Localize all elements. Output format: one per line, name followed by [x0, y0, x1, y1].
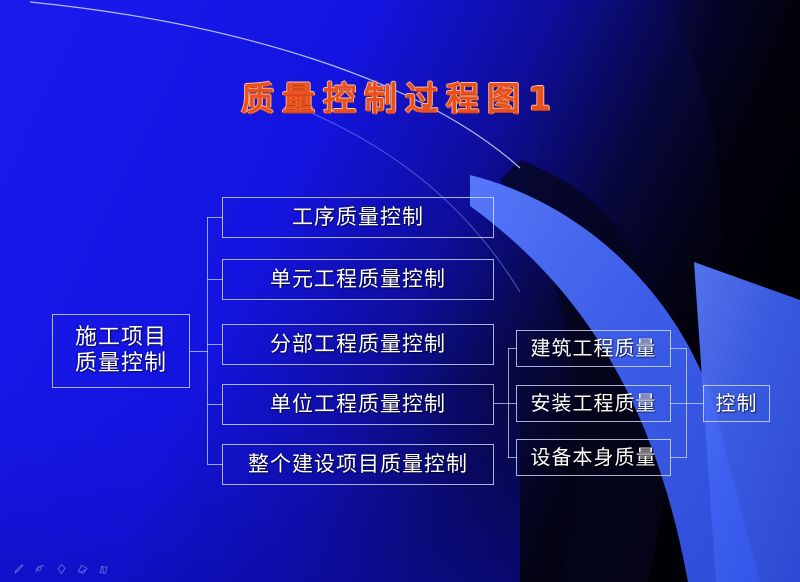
node-label: 设备本身质量 — [531, 446, 657, 470]
node-control-terminal[interactable]: 控制 — [703, 385, 770, 422]
node-label: 安装工程质量 — [531, 392, 657, 416]
pointer-icon[interactable] — [54, 562, 69, 576]
node-label: 单元工程质量控制 — [270, 267, 446, 292]
connector-middle-spine — [207, 217, 208, 464]
node-label: 整个建设项目质量控制 — [248, 452, 468, 477]
node-root-line1: 施工项目 — [75, 325, 167, 351]
connector-root-stub — [190, 351, 208, 352]
annotation-toolbar[interactable] — [12, 562, 111, 576]
connector-middle-1 — [207, 217, 223, 218]
connector-terminal-3 — [670, 457, 687, 458]
node-unit-project-quality-control[interactable]: 单位工程质量控制 — [222, 384, 494, 425]
slide-canvas: 质量控制过程图1 施工项目 质量控制 工序质量控制 单元工程质量控制 分部工程质… — [0, 0, 800, 582]
connector-terminal-spine — [686, 348, 687, 458]
page-title: 质量控制过程图1 — [0, 72, 800, 120]
node-division-engineering-quality-control[interactable]: 分部工程质量控制 — [222, 324, 494, 365]
connector-middle-3 — [207, 344, 223, 345]
node-label: 单位工程质量控制 — [270, 392, 446, 417]
connector-middle-5 — [207, 464, 223, 465]
connector-terminal-1 — [670, 348, 687, 349]
scribble-icon[interactable] — [33, 562, 48, 576]
node-installation-engineering-quality[interactable]: 安装工程质量 — [516, 385, 671, 422]
node-building-engineering-quality[interactable]: 建筑工程质量 — [516, 330, 671, 367]
pen-icon[interactable] — [12, 562, 27, 576]
node-whole-construction-project-quality-control[interactable]: 整个建设项目质量控制 — [222, 444, 494, 485]
node-label: 工序质量控制 — [292, 205, 424, 230]
node-root-line2: 质量控制 — [75, 351, 167, 377]
connector-middle-2 — [207, 279, 223, 280]
node-process-quality-control[interactable]: 工序质量控制 — [222, 197, 494, 238]
node-unit-engineering-quality-control[interactable]: 单元工程质量控制 — [222, 259, 494, 300]
eraser-icon[interactable] — [75, 562, 90, 576]
connector-right-feed — [494, 403, 509, 404]
marker-icon[interactable] — [96, 562, 111, 576]
node-label: 控制 — [716, 392, 758, 416]
connector-middle-4 — [207, 404, 223, 405]
node-root[interactable]: 施工项目 质量控制 — [52, 314, 190, 388]
node-label: 建筑工程质量 — [531, 337, 657, 361]
node-label: 分部工程质量控制 — [270, 332, 446, 357]
node-equipment-own-quality[interactable]: 设备本身质量 — [516, 439, 671, 476]
